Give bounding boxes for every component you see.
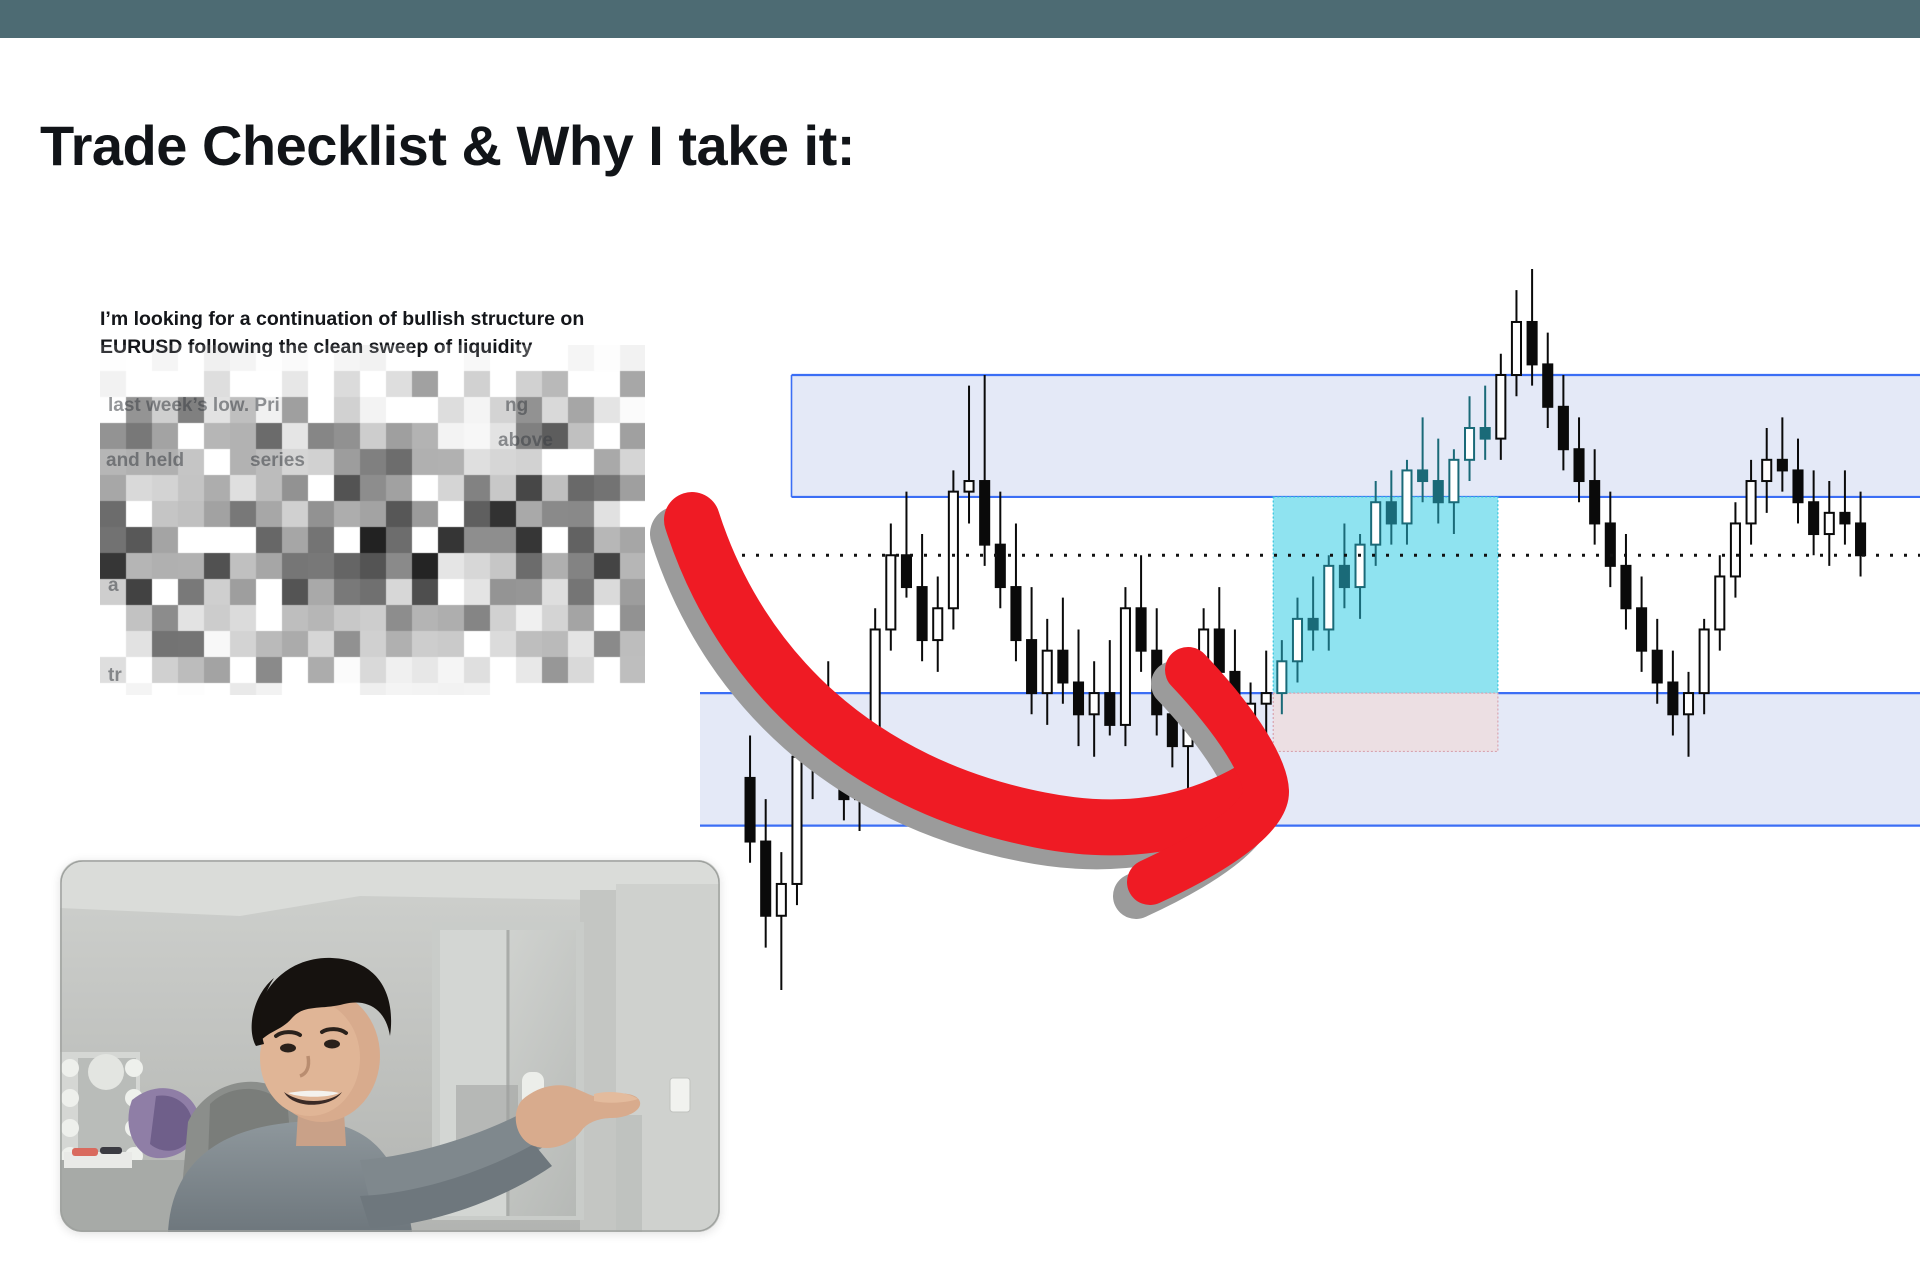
- candle-bullish: [855, 751, 864, 799]
- candle-bearish: [1481, 428, 1490, 439]
- profit-target-box: [1273, 497, 1498, 693]
- candle-bearish: [1230, 672, 1239, 736]
- candle-bearish: [1027, 640, 1036, 693]
- candle-bullish: [1762, 460, 1771, 481]
- candle-bullish: [1293, 619, 1302, 661]
- candle-bearish: [1152, 651, 1161, 715]
- candle-bullish: [1402, 470, 1411, 523]
- candle-bullish: [1121, 608, 1130, 725]
- candle-bullish: [792, 757, 801, 884]
- presenter-webcam[interactable]: [60, 860, 720, 1232]
- candle-bearish: [1543, 364, 1552, 406]
- candle-bearish: [996, 545, 1005, 587]
- slide-canvas: Trade Checklist & Why I take it: I’m loo…: [0, 0, 1920, 1282]
- candle-bullish: [1449, 460, 1458, 502]
- candle-bullish: [1731, 523, 1740, 576]
- candle-bullish: [1090, 693, 1099, 714]
- candle-bullish: [808, 725, 817, 757]
- candle-bearish: [1074, 682, 1083, 714]
- candle-bearish: [1340, 566, 1349, 587]
- candle-bullish: [1324, 566, 1333, 630]
- candle-bullish: [1512, 322, 1521, 375]
- note-fragment-4: ng: [505, 395, 528, 417]
- candle-bearish: [1559, 407, 1568, 449]
- candle-bullish: [1496, 375, 1505, 439]
- candle-bearish: [1856, 523, 1865, 555]
- note-fragment-7: tr: [108, 665, 122, 687]
- candle-bearish: [1778, 460, 1787, 471]
- top-accent-bar: [0, 0, 1920, 38]
- candle-bearish: [1637, 608, 1646, 650]
- candle-bearish: [918, 587, 927, 640]
- candle-bearish: [1387, 502, 1396, 523]
- note-line-2: EURUSD following the clean sweep of liqu…: [100, 333, 680, 361]
- candle-bullish: [886, 555, 895, 629]
- candle-bullish: [1825, 513, 1834, 534]
- candle-bullish: [1356, 545, 1365, 587]
- candle-bearish: [980, 481, 989, 545]
- candle-bearish: [1606, 523, 1615, 565]
- candle-bullish: [1747, 481, 1756, 523]
- candle-bearish: [1434, 481, 1443, 502]
- note-fragment-2: and held: [106, 450, 184, 472]
- candle-bullish: [1183, 704, 1192, 746]
- candle-bearish: [1105, 693, 1114, 725]
- candle-bullish: [1277, 661, 1286, 693]
- candle-bearish: [746, 778, 755, 842]
- candle-bearish: [1168, 714, 1177, 746]
- price-chart: [700, 150, 1920, 1282]
- candle-bullish: [871, 629, 880, 751]
- candle-bearish: [1215, 629, 1224, 671]
- stop-loss-box: [1273, 693, 1498, 751]
- redacted-text-mosaic: last week’s low. Pri and held series ng …: [100, 345, 645, 695]
- webcam-scene: [60, 860, 720, 1232]
- candle-bearish: [1653, 651, 1662, 683]
- candle-bearish: [1621, 566, 1630, 608]
- candle-bearish: [824, 725, 833, 746]
- candle-bullish: [1715, 576, 1724, 629]
- candle-bullish: [1371, 502, 1380, 544]
- candle-bullish: [1684, 693, 1693, 714]
- candle-bearish: [902, 555, 911, 587]
- webcam-frame: [60, 860, 720, 1232]
- candle-bearish: [1668, 682, 1677, 714]
- candle-bearish: [1809, 502, 1818, 534]
- note-fragment-5: above: [498, 430, 553, 452]
- note-fragment-1: last week’s low. Pri: [108, 395, 280, 417]
- candle-bearish: [839, 746, 848, 799]
- candle-bearish: [761, 842, 770, 916]
- candle-bearish: [1574, 449, 1583, 481]
- candle-bullish: [1199, 629, 1208, 703]
- candle-bullish: [1465, 428, 1474, 460]
- candle-bearish: [1309, 619, 1318, 630]
- candle-bullish: [964, 481, 973, 492]
- candle-bullish: [933, 608, 942, 640]
- note-fragment-6: a: [108, 575, 119, 597]
- analysis-note: I’m looking for a continuation of bullis…: [100, 305, 680, 362]
- candle-bearish: [1840, 513, 1849, 524]
- candle-bearish: [1418, 470, 1427, 481]
- candle-bullish: [1700, 629, 1709, 693]
- candle-bullish: [1043, 651, 1052, 693]
- note-fragment-3: series: [250, 450, 305, 472]
- candle-bearish: [1011, 587, 1020, 640]
- candlestick-chart-svg: [700, 150, 1920, 1282]
- candle-bearish: [1793, 470, 1802, 502]
- candle-bearish: [1528, 322, 1537, 364]
- candles-post-trade: [1496, 269, 1865, 757]
- candle-bearish: [1137, 608, 1146, 650]
- candle-bearish: [1058, 651, 1067, 683]
- candle-bullish: [777, 884, 786, 916]
- candle-bullish: [1262, 693, 1271, 704]
- candle-bullish: [949, 492, 958, 609]
- note-line-1: I’m looking for a continuation of bullis…: [100, 305, 680, 333]
- candle-bullish: [1246, 704, 1255, 736]
- candle-bearish: [1590, 481, 1599, 523]
